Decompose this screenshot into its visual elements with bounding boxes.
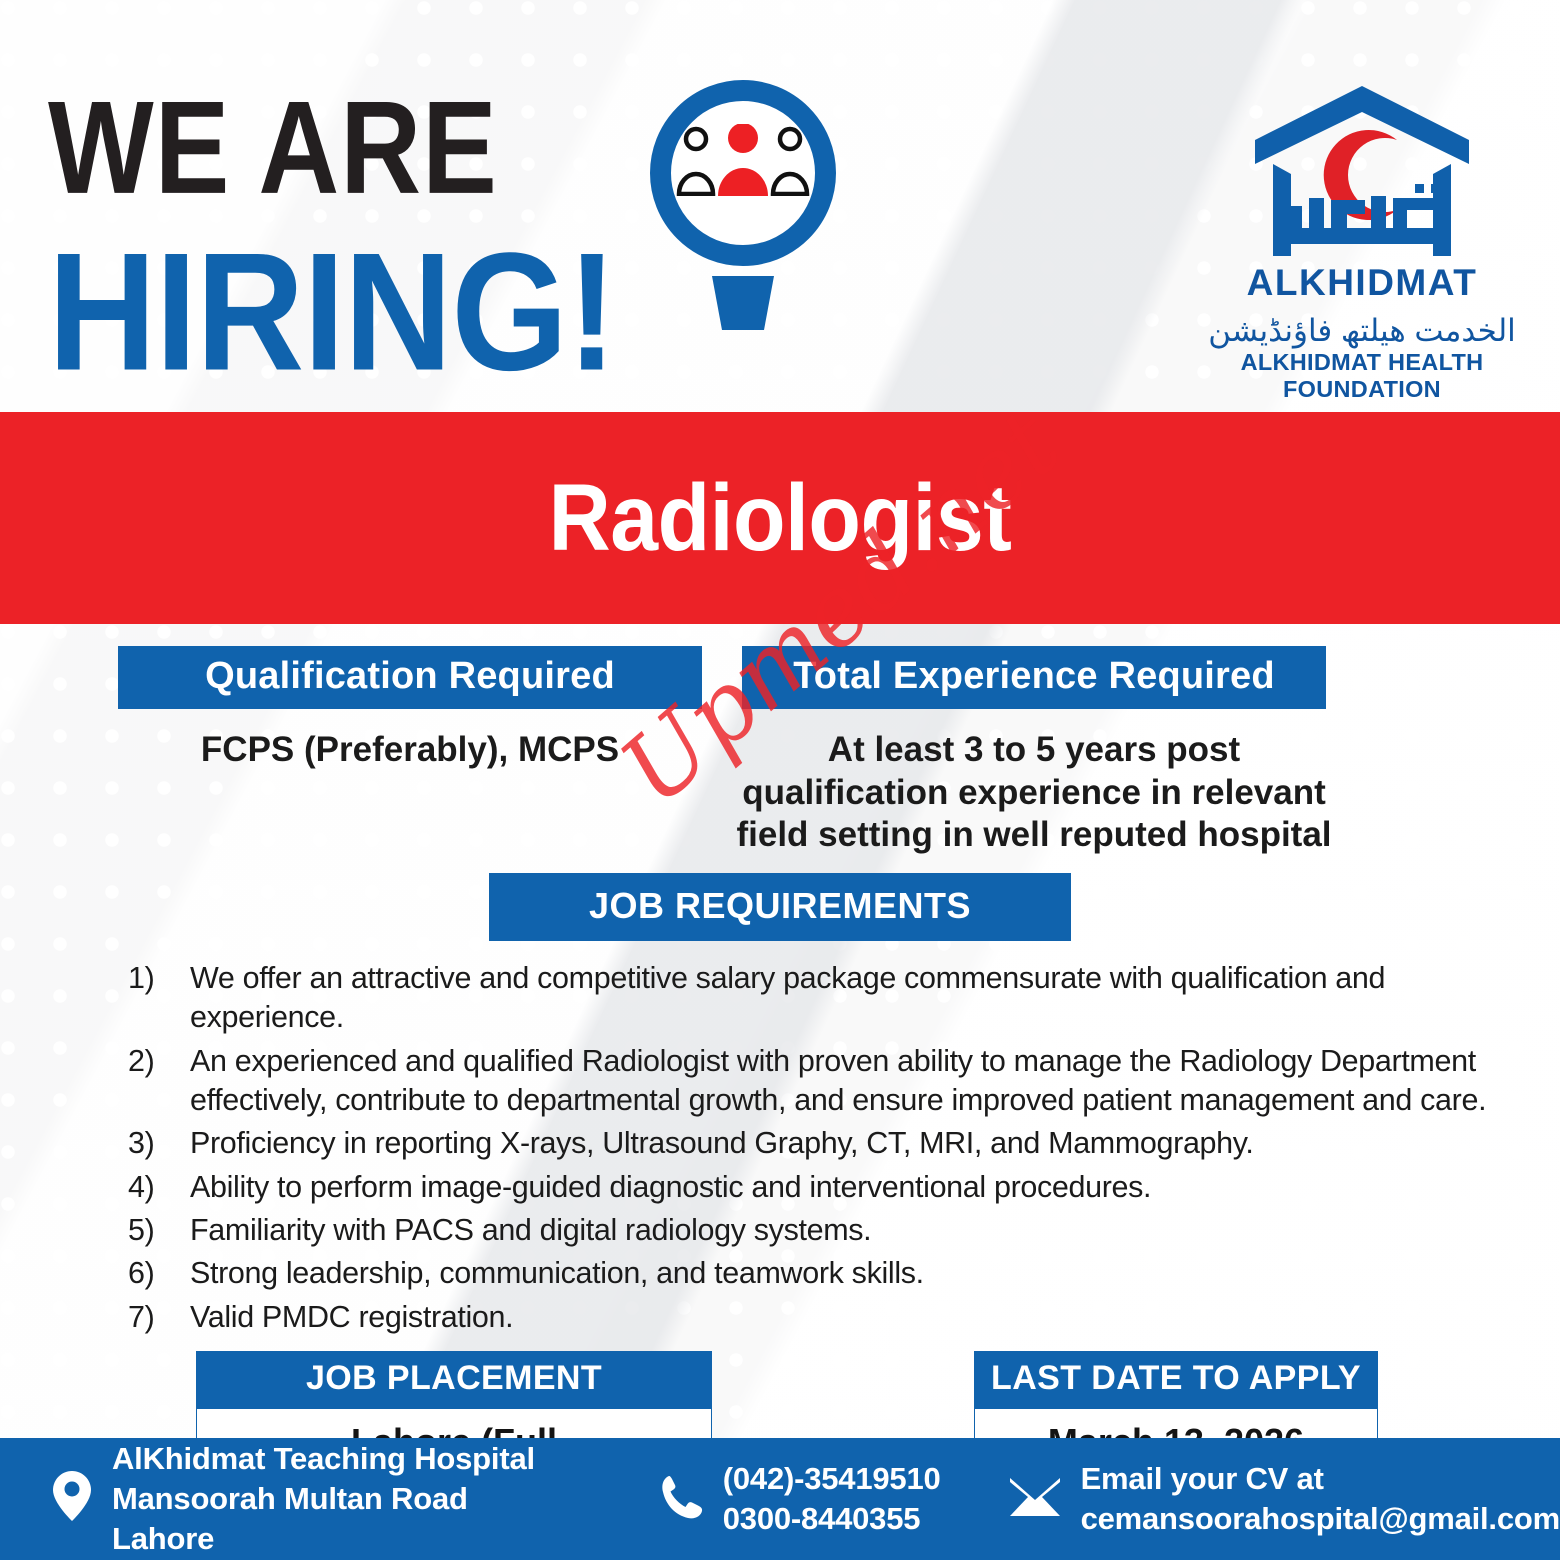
footer-address: AlKhidmat Teaching Hospital Mansoorah Mu… [52,1439,575,1558]
footer-email[interactable]: Email your CV at cemansoorahospital@gmai… [1009,1459,1560,1538]
job-poster: WE ARE HIRING! [0,0,1560,1560]
phone-icon [661,1474,703,1525]
requirement-item: 1)We offer an attractive and competitive… [128,959,1520,1038]
qualification-block: Qualification Required FCPS (Preferably)… [0,646,700,857]
poster-header: WE ARE HIRING! [0,0,1560,412]
requirement-text: An experienced and qualified Radiologist… [190,1044,1486,1117]
experience-block: Total Experience Required At least 3 to … [700,646,1560,857]
qualification-experience-row: Qualification Required FCPS (Preferably)… [0,624,1560,857]
location-pin-icon [52,1470,92,1527]
contact-footer: AlKhidmat Teaching Hospital Mansoorah Mu… [0,1438,1560,1560]
requirement-number: 2) [128,1042,180,1081]
magnifier-handle [712,276,774,330]
requirement-item: 4)Ability to perform image-guided diagno… [128,1168,1520,1207]
requirement-text: Strong leadership, communication, and te… [190,1256,924,1290]
footer-phone-line2: 0300-8440355 [723,1501,921,1536]
logo-arabic-text: الخدمت هیلتھ فاؤنڈیشن [1192,314,1532,348]
requirement-item: 6)Strong leadership, communication, and … [128,1254,1520,1293]
requirement-text: We offer an attractive and competitive s… [190,961,1385,1034]
organization-logo: ALKHIDMAT الخدمت هیلتھ فاؤنڈیشن ALKHIDMA… [1192,78,1532,403]
requirement-number: 7) [128,1298,180,1337]
magnifier-people-icon [650,80,836,330]
footer-address-text: AlKhidmat Teaching Hospital Mansoorah Mu… [112,1439,575,1558]
footer-phone[interactable]: (042)-35419510 0300-8440355 [661,1459,941,1538]
requirement-item: 7)Valid PMDC registration. [128,1298,1520,1337]
job-requirements-list: 1)We offer an attractive and competitive… [0,959,1560,1337]
job-title-banner: Radiologist [0,412,1560,624]
requirement-number: 6) [128,1254,180,1293]
requirement-number: 1) [128,959,180,998]
job-requirements-heading: JOB REQUIREMENTS [489,873,1071,941]
footer-phone-text: (042)-35419510 0300-8440355 [723,1459,941,1538]
qualification-heading: Qualification Required [118,646,702,709]
footer-email-address: cemansoorahospital@gmail.com [1081,1501,1560,1536]
job-placement-heading: JOB PLACEMENT [196,1351,712,1409]
requirement-text: Familiarity with PACS and digital radiol… [190,1213,871,1247]
people-group-icon [676,124,810,196]
footer-address-line1: AlKhidmat Teaching Hospital [112,1441,535,1476]
requirement-text: Valid PMDC registration. [190,1300,513,1334]
requirement-item: 5)Familiarity with PACS and digital radi… [128,1211,1520,1250]
requirement-number: 5) [128,1211,180,1250]
footer-phone-line1: (042)-35419510 [723,1461,941,1496]
experience-value: At least 3 to 5 years post qualification… [724,709,1344,857]
requirement-number: 3) [128,1124,180,1163]
requirement-number: 4) [128,1168,180,1207]
envelope-icon [1009,1477,1061,1522]
alkhidmat-house-crescent-logo [1247,78,1477,268]
job-title: Radiologist [549,464,1012,573]
requirement-item: 3)Proficiency in reporting X-rays, Ultra… [128,1124,1520,1163]
experience-heading: Total Experience Required [742,646,1326,709]
footer-email-text: Email your CV at cemansoorahospital@gmai… [1081,1459,1560,1538]
requirement-text: Proficiency in reporting X-rays, Ultraso… [190,1126,1254,1160]
hiring-text: HIRING! [48,234,616,389]
logo-subtitle: ALKHIDMAT HEALTH FOUNDATION [1192,349,1532,403]
qualification-value: FCPS (Preferably), MCPS [118,709,702,772]
requirement-item: 2)An experienced and qualified Radiologi… [128,1042,1520,1121]
footer-email-line1: Email your CV at [1081,1461,1324,1496]
footer-address-line2: Mansoorah Multan Road Lahore [112,1481,468,1556]
last-date-heading: LAST DATE TO APPLY [974,1351,1378,1409]
logo-wordmark: ALKHIDMAT [1192,262,1532,304]
requirement-text: Ability to perform image-guided diagnost… [190,1170,1151,1204]
